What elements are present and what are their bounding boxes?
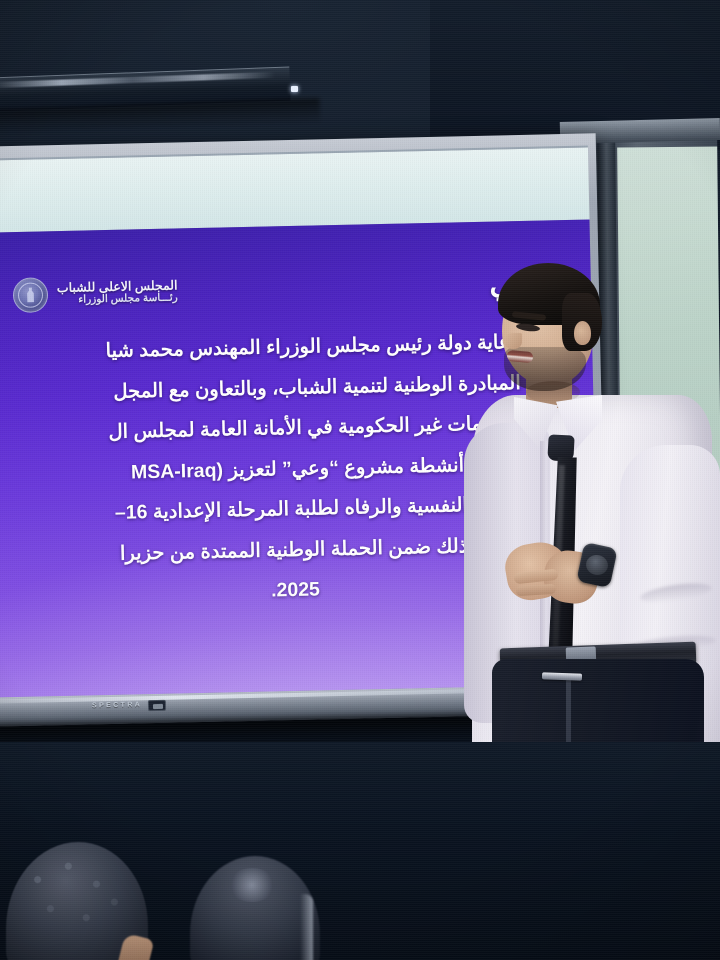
iraq-state-emblem-icon [13,277,49,313]
display-brand-label: SPECTRA [92,701,142,709]
presenter-figure [470,255,720,815]
presentation-photo-scene: المجلس الاعلى للشباب رئـــاسة مجلس الوزر… [0,0,720,960]
tie-clip [542,672,582,680]
presenter-ear [574,321,591,345]
emblem-inner-shape-icon [25,287,36,302]
council-logo-text: المجلس الاعلى للشباب رئـــاسة مجلس الوزر… [57,279,178,306]
audience-head-rim-light [300,894,313,960]
audience-head-highlight [228,868,276,902]
status-led-icon [291,86,298,92]
presenter-mouth [507,350,534,363]
council-logo-group: المجلس الاعلى للشباب رئـــاسة مجلس الوزر… [13,274,178,313]
usb-port-icon[interactable] [148,700,166,711]
display-top-white-band [0,145,589,232]
presenter-nose [504,333,522,349]
